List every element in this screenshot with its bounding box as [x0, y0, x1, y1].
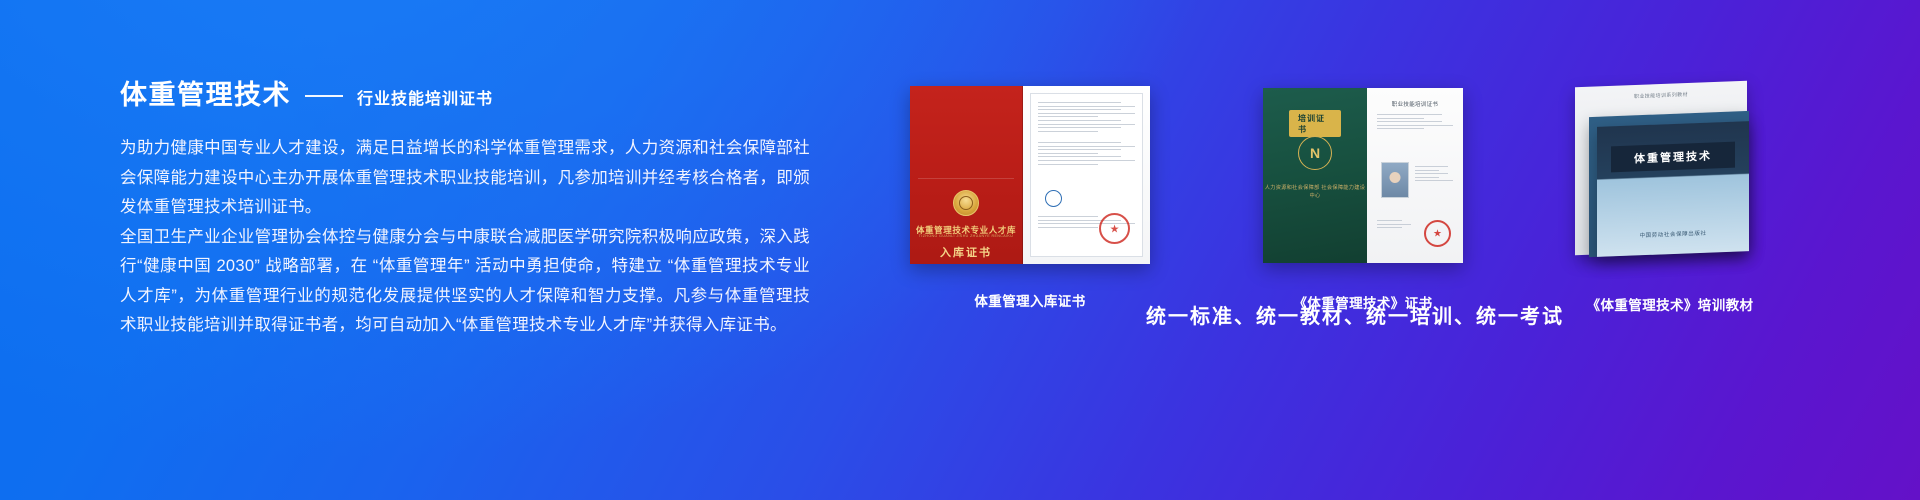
- id-page-lines-bottom: [1377, 220, 1417, 231]
- page-heading: 职业技能培训证书: [1377, 100, 1453, 108]
- page-title: 体重管理技术 行业技能培训证书: [120, 78, 810, 112]
- body-paragraph-2: 全国卫生产业企业管理协会体控与健康分会与中康联合减肥医学研究院积极响应政策，深入…: [120, 223, 810, 341]
- cover-hairline: [918, 178, 1014, 179]
- gold-emblem-icon: [953, 190, 979, 216]
- body-paragraph-1: 为助力健康中国专业人才建设，满足日益增长的科学体重管理需求，人力资源和社会保障部…: [120, 134, 810, 223]
- page-content: [1030, 93, 1143, 257]
- id-page: 职业技能培训证书: [1367, 88, 1463, 263]
- page-text-lines-mid: [1038, 142, 1135, 167]
- left-text-column: 体重管理技术 行业技能培训证书 为助力健康中国专业人才建设，满足日益增长的科学体…: [120, 78, 810, 341]
- blue-logo-icon: [1045, 190, 1062, 207]
- cover-name: 入库证书: [910, 244, 1022, 260]
- certificate-item-培训教材[interactable]: 职业技能培训系列教材 体重管理技术 中国劳动社会保障出版社 《体重管理技术》培训…: [1555, 80, 1785, 280]
- cover-subtitle: 人力资源和社会保障部 社会保障能力建设中心: [1263, 184, 1367, 200]
- certificate-item-入库证书[interactable]: 体重管理技术专业人才库 TIZHONG GUANLI JISHU ZHUANYE…: [910, 86, 1150, 276]
- title-main: 体重管理技术: [120, 78, 291, 112]
- green-cover: 培训证书 N 人力资源和社会保障部 社会保障能力建设中心: [1263, 88, 1367, 263]
- book-footer: 中国劳动社会保障出版社: [1597, 227, 1749, 241]
- book-front-cover: 体重管理技术 中国劳动社会保障出版社: [1597, 121, 1749, 257]
- certificate-image-red-book: 体重管理技术专业人才库 TIZHONG GUANLI JISHU ZHUANYE…: [910, 86, 1150, 264]
- id-page-lines-top: [1377, 114, 1453, 132]
- book-title: 体重管理技术: [1611, 142, 1735, 173]
- tagline: 统一标准、统一教材、统一培训、统一考试: [905, 300, 1805, 329]
- certificate-item-培训证书[interactable]: 培训证书 N 人力资源和社会保障部 社会保障能力建设中心 职业技能培训证书: [1263, 88, 1463, 278]
- red-seal-icon: [1424, 220, 1451, 247]
- portrait-photo: [1381, 162, 1409, 198]
- book-top-label: 职业技能培训系列教材: [1575, 89, 1747, 103]
- id-page-lines-fields: [1415, 166, 1453, 184]
- title-subtitle: 行业技能培训证书: [357, 83, 493, 117]
- red-cover: 体重管理技术专业人才库 TIZHONG GUANLI JISHU ZHUANYE…: [910, 86, 1023, 264]
- textbook-image: 职业技能培训系列教材 体重管理技术 中国劳动社会保障出版社: [1555, 80, 1785, 270]
- cover-subtitle: TIZHONG GUANLI JISHU ZHUANYE RENCAIKU: [910, 234, 1022, 238]
- cover-badge: 培训证书: [1289, 110, 1341, 137]
- promo-banner: 体重管理技术 行业技能培训证书 为助力健康中国专业人才建设，满足日益增长的科学体…: [0, 0, 1920, 500]
- page-text-lines-top: [1038, 102, 1135, 134]
- title-divider-rule: [305, 95, 343, 97]
- cover-emblem-icon: N: [1298, 136, 1332, 170]
- red-seal-icon: [1099, 213, 1130, 244]
- certificate-gallery: 体重管理技术专业人才库 TIZHONG GUANLI JISHU ZHUANYE…: [905, 70, 1805, 390]
- certificate-image-green-book: 培训证书 N 人力资源和社会保障部 社会保障能力建设中心 职业技能培训证书: [1263, 88, 1463, 263]
- white-page: [1023, 86, 1150, 264]
